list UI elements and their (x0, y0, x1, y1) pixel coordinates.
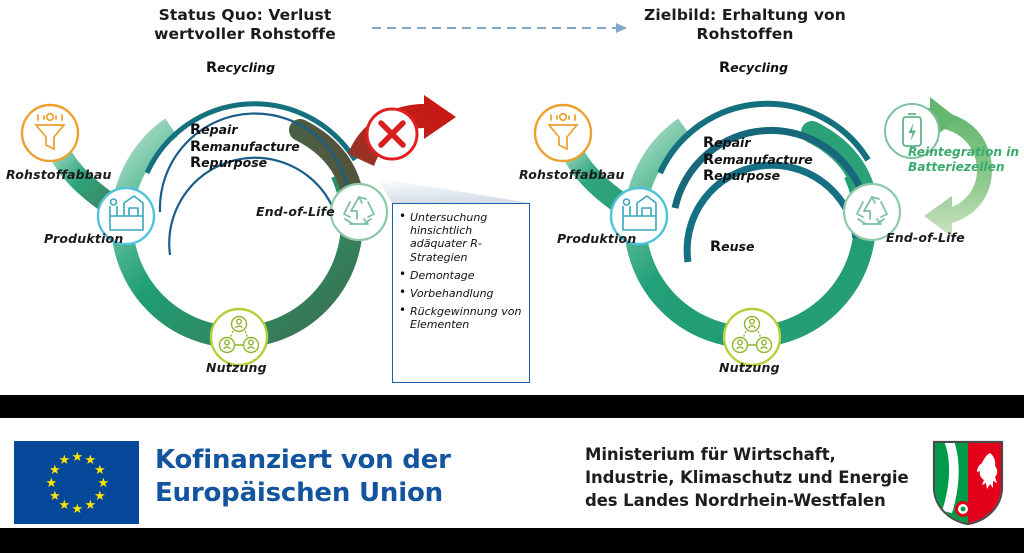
eu-flag: ★★★★★★★★★★★★ (14, 441, 139, 524)
left-label-end-of-life: End-of-Life (256, 204, 335, 219)
right-label-end-of-life: End-of-Life (886, 230, 965, 245)
right-label-rohstoffabbau: Rohstoffabbau (519, 167, 625, 182)
right-loop-label-r-strategies: Repair Remanufacture Repurpose (703, 135, 813, 185)
right-node-rohstoffabbau (535, 105, 591, 161)
eu-star: ★ (46, 476, 56, 490)
eu-star: ★ (49, 489, 59, 503)
eu-funding-text: Kofinanziert von der Europäischen Union (155, 444, 451, 510)
callout-item: Rückgewinnung von Elementen (397, 305, 523, 331)
eu-star: ★ (72, 450, 82, 464)
right-label-nutzung: Nutzung (719, 360, 780, 375)
diagram-panel: Status Quo: Verlust wertvoller Rohstoffe… (0, 0, 1024, 395)
right-node-nutzung (724, 309, 780, 365)
callout-item: Untersuchung hinsichtlich adäquater R-St… (397, 211, 523, 264)
left-label-nutzung: Nutzung (206, 360, 267, 375)
nrw-coat-of-arms (930, 439, 1006, 527)
callout-list: Untersuchung hinsichtlich adäquater R-St… (397, 211, 523, 332)
right-panel-title: Zielbild: Erhaltung von Rohstoffen (620, 6, 870, 44)
callout-fan (377, 178, 530, 203)
callout-item: Demontage (397, 269, 523, 282)
left-label-rohstoffabbau: Rohstoffabbau (6, 167, 112, 182)
left-node-end-of-life (331, 184, 387, 240)
eu-star: ★ (49, 463, 59, 477)
screenshot-root: Status Quo: Verlust wertvoller Rohstoffe… (0, 0, 1024, 553)
eu-star: ★ (72, 502, 82, 516)
left-label-produktion: Produktion (44, 231, 123, 246)
eu-star: ★ (85, 453, 95, 467)
funding-footer: ★★★★★★★★★★★★ Kofinanziert von der Europä… (0, 418, 1024, 528)
nrw-rose (955, 501, 971, 517)
right-loop-label-recycling: Recycling (719, 60, 788, 77)
eu-star: ★ (85, 498, 95, 512)
left-loop-label-r-strategies: Repair Remanufacture Repurpose (190, 122, 300, 172)
eu-star: ★ (59, 453, 69, 467)
left-loop-label-recycling: Recycling (206, 60, 275, 77)
reintegration-label: Reintegration in Batteriezellen (908, 145, 1019, 175)
left-node-nutzung (211, 309, 267, 365)
right-label-produktion: Produktion (557, 231, 636, 246)
callout-item: Vorbehandlung (397, 287, 523, 300)
right-loop-label-reuse: Reuse (710, 239, 754, 256)
callout-box: Untersuchung hinsichtlich adäquater R-St… (392, 203, 530, 383)
left-node-rohstoffabbau (22, 105, 78, 161)
red-x-icon (367, 109, 417, 159)
ministry-text: Ministerium für Wirtschaft, Industrie, K… (585, 443, 909, 512)
left-panel-title: Status Quo: Verlust wertvoller Rohstoffe (120, 6, 370, 44)
